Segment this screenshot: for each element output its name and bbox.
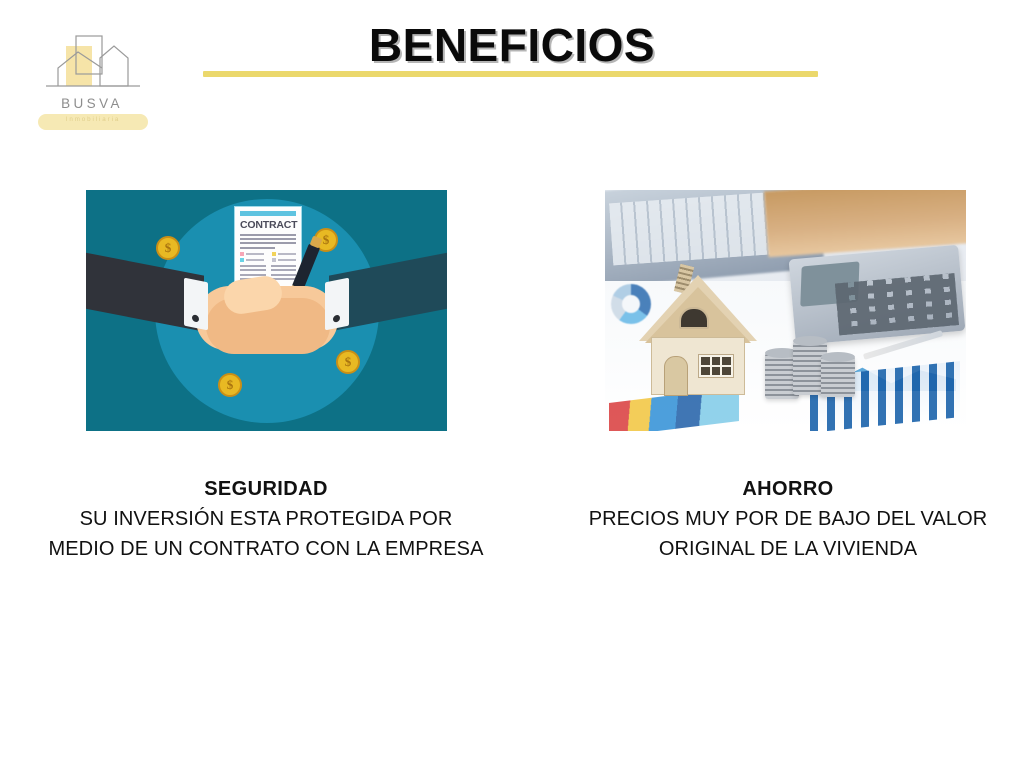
logo-tagline: Inmobiliaria — [38, 116, 148, 123]
contract-checkbox-row — [272, 258, 296, 262]
wooden-house-model — [639, 267, 757, 397]
contract-header-bar — [240, 211, 296, 216]
photo-scene — [605, 190, 966, 431]
contract-text-line — [240, 234, 296, 236]
contract-text-line — [240, 238, 296, 240]
benefit-title: AHORRO — [568, 476, 1008, 502]
shirt-cuff-right — [325, 278, 349, 331]
calculator-keypad — [835, 273, 959, 335]
house-body — [651, 337, 745, 395]
contract-checkbox-row — [240, 252, 264, 256]
house-window — [698, 354, 734, 378]
house-door — [664, 356, 688, 396]
dollar-coin-icon: $ — [336, 350, 360, 374]
contract-checkbox-row — [272, 252, 296, 256]
benefit-description: PRECIOS MUY POR DE BAJO DEL VALOR ORIGIN… — [568, 504, 1008, 564]
page-title: BENEFICIOS — [0, 18, 1024, 72]
shirt-cuff-left — [184, 278, 208, 331]
coin-stack — [821, 357, 855, 397]
benefit-title: SEGURIDAD — [46, 476, 486, 502]
dollar-coin-icon: $ — [218, 373, 242, 397]
coin-stacks — [765, 339, 861, 399]
attic-window — [679, 307, 709, 329]
benefit-caption-seguridad: SEGURIDAD SU INVERSIÓN ESTA PROTEGIDA PO… — [46, 476, 486, 564]
contract-text-line — [240, 242, 296, 244]
contract-checkbox-group — [240, 252, 296, 263]
illustration-background: $ $ $ $ CONTRACT — [86, 190, 447, 431]
contract-checkbox-row — [240, 258, 264, 262]
contract-text-line — [240, 247, 275, 249]
logo-wordmark: BUSVA — [32, 96, 152, 111]
benefit-caption-ahorro: AHORRO PRECIOS MUY POR DE BAJO DEL VALOR… — [568, 476, 1008, 564]
contract-document-label: CONTRACT — [240, 220, 296, 231]
dollar-coin-icon: $ — [156, 236, 180, 260]
handshake-contract-illustration: $ $ $ $ CONTRACT — [86, 190, 447, 431]
benefit-description: SU INVERSIÓN ESTA PROTEGIDA POR MEDIO DE… — [46, 504, 486, 564]
title-underline-rule — [203, 71, 818, 77]
house-model-coins-calculator-photo — [605, 190, 966, 431]
benefit-card-seguridad: $ $ $ $ CONTRACT — [86, 190, 447, 431]
benefit-card-ahorro — [605, 190, 966, 431]
